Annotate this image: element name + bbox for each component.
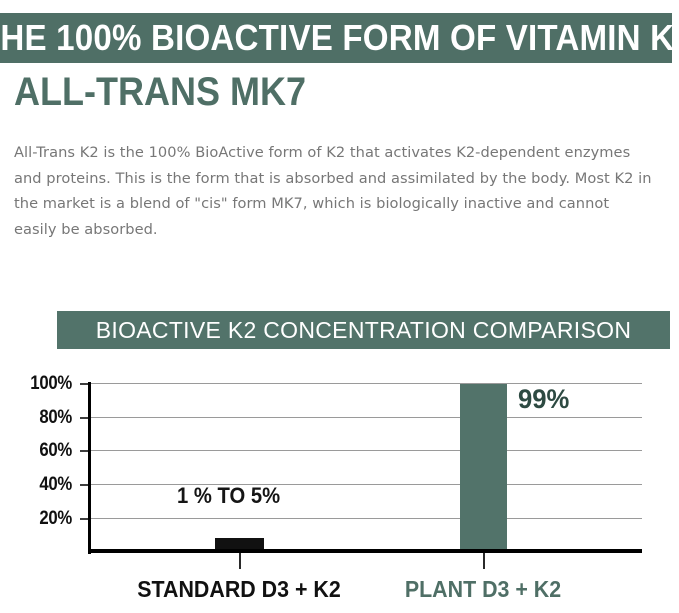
- ytick-label-60: 60%: [9, 441, 72, 460]
- category-label-standard: STANDARD D3 + K2: [127, 578, 350, 601]
- gridline-20: [91, 518, 642, 519]
- data-label-plant: 99%: [518, 386, 569, 413]
- page-subtitle: ALL-TRANS MK7: [14, 72, 306, 112]
- data-label-standard: 1 % TO 5%: [177, 485, 280, 507]
- xtick-mark-plant: [483, 553, 485, 569]
- gridline-40: [91, 484, 642, 485]
- y-axis-line: [88, 382, 91, 554]
- category-label-plant: PLANT D3 + K2: [381, 578, 586, 601]
- bar-standard-d3-k2: [215, 538, 264, 549]
- chart-title-banner: BIOACTIVE K2 CONCENTRATION COMPARISON: [57, 311, 670, 349]
- ytick-label-40: 40%: [9, 475, 72, 494]
- ytick-label-80: 80%: [9, 408, 72, 427]
- x-axis-line: [88, 549, 642, 553]
- bar-plant-d3-k2: [460, 384, 507, 549]
- gridline-60: [91, 450, 642, 451]
- chart-title: BIOACTIVE K2 CONCENTRATION COMPARISON: [96, 319, 631, 342]
- ytick-label-20: 20%: [9, 509, 72, 528]
- body-paragraph: All-Trans K2 is the 100% BioActive form …: [14, 140, 652, 242]
- header-banner-title: THE 100% BIOACTIVE FORM OF VITAMIN K2: [0, 20, 679, 56]
- gridline-80: [91, 417, 642, 418]
- bar-chart: 100% 80% 60% 40% 20% 1 % TO 5% 99% STAND…: [0, 360, 679, 613]
- xtick-mark-standard: [239, 553, 241, 569]
- header-banner: THE 100% BIOACTIVE FORM OF VITAMIN K2: [0, 13, 672, 63]
- ytick-label-100: 100%: [9, 374, 72, 393]
